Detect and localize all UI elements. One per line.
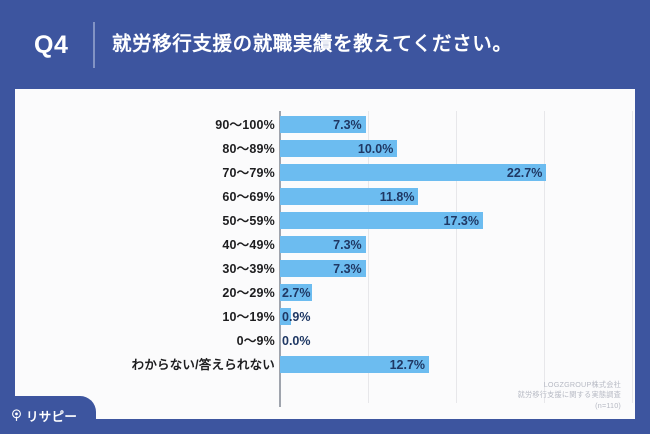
category-label: 90〜100% [215,113,275,137]
category-label: 40〜49% [222,233,275,257]
brand-tab: リサピー [0,396,96,434]
chart-row: わからない/答えられない12.7% [15,353,635,377]
chart-row: 30〜39%7.3% [15,257,635,281]
category-label: 60〜69% [222,185,275,209]
category-label: 20〜29% [222,281,275,305]
category-label: わからない/答えられない [132,353,275,377]
chart-row: 40〜49%7.3% [15,233,635,257]
bar-value-label: 2.7% [282,281,311,305]
category-label: 80〜89% [222,137,275,161]
bar-value-label: 10.0% [358,137,393,161]
chart-row: 60〜69%11.8% [15,185,635,209]
chart-row: 70〜79%22.7% [15,161,635,185]
bar-track: 17.3% [280,209,632,233]
chart-row: 90〜100%7.3% [15,113,635,137]
bar-track: 7.3% [280,113,632,137]
bar-track: 2.7% [280,281,632,305]
bar-track: 7.3% [280,233,632,257]
bar-track: 7.3% [280,257,632,281]
category-label: 10〜19% [222,305,275,329]
header-band: Q4 就労移行支援の就職実績を教えてください。 [0,0,650,90]
bar-track: 0.9% [280,305,632,329]
bar-chart-rows: 90〜100%7.3%80〜89%10.0%70〜79%22.7%60〜69%1… [15,113,635,377]
chart-row: 50〜59%17.3% [15,209,635,233]
category-label: 30〜39% [222,257,275,281]
bar-value-label: 7.3% [333,233,362,257]
bar-track: 11.8% [280,185,632,209]
chart-row: 10〜19%0.9% [15,305,635,329]
question-title: 就労移行支援の就職実績を教えてください。 [112,30,632,58]
chart-row: 80〜89%10.0% [15,137,635,161]
bar-value-label: 11.8% [380,185,415,209]
source-line-1: LOGZGROUP株式会社 [518,380,621,391]
bar-value-label: 7.3% [333,113,362,137]
bar-value-label: 12.7% [390,353,425,377]
chart-row: 0〜9%0.0% [15,329,635,353]
bar-value-label: 17.3% [444,209,479,233]
category-label: 70〜79% [222,161,275,185]
chart-row: 20〜29%2.7% [15,281,635,305]
bar-track: 12.7% [280,353,632,377]
source-note: LOGZGROUP株式会社 就労移行支援に関する実態調査 (n=110) [518,380,621,412]
bar-value-label: 22.7% [507,161,542,185]
bar-value-label: 0.9% [282,305,311,329]
bar-value-label: 7.3% [333,257,362,281]
source-line-2: 就労移行支援に関する実態調査 [518,390,621,401]
source-line-3: (n=110) [518,401,621,412]
brand-name: リサピー [26,406,77,425]
header-divider [93,22,95,68]
bar-track: 0.0% [280,329,632,353]
category-label: 50〜59% [222,209,275,233]
bar-track: 22.7% [280,161,632,185]
bar-track: 10.0% [280,137,632,161]
category-label: 0〜9% [237,329,275,353]
slide-root: Q4 就労移行支援の就職実績を教えてください。 90〜100%7.3%80〜89… [0,0,650,434]
location-pin-icon [10,409,23,422]
question-number: Q4 [34,28,92,62]
bar-value-label: 0.0% [282,329,311,353]
chart-card: 90〜100%7.3%80〜89%10.0%70〜79%22.7%60〜69%1… [15,89,635,419]
